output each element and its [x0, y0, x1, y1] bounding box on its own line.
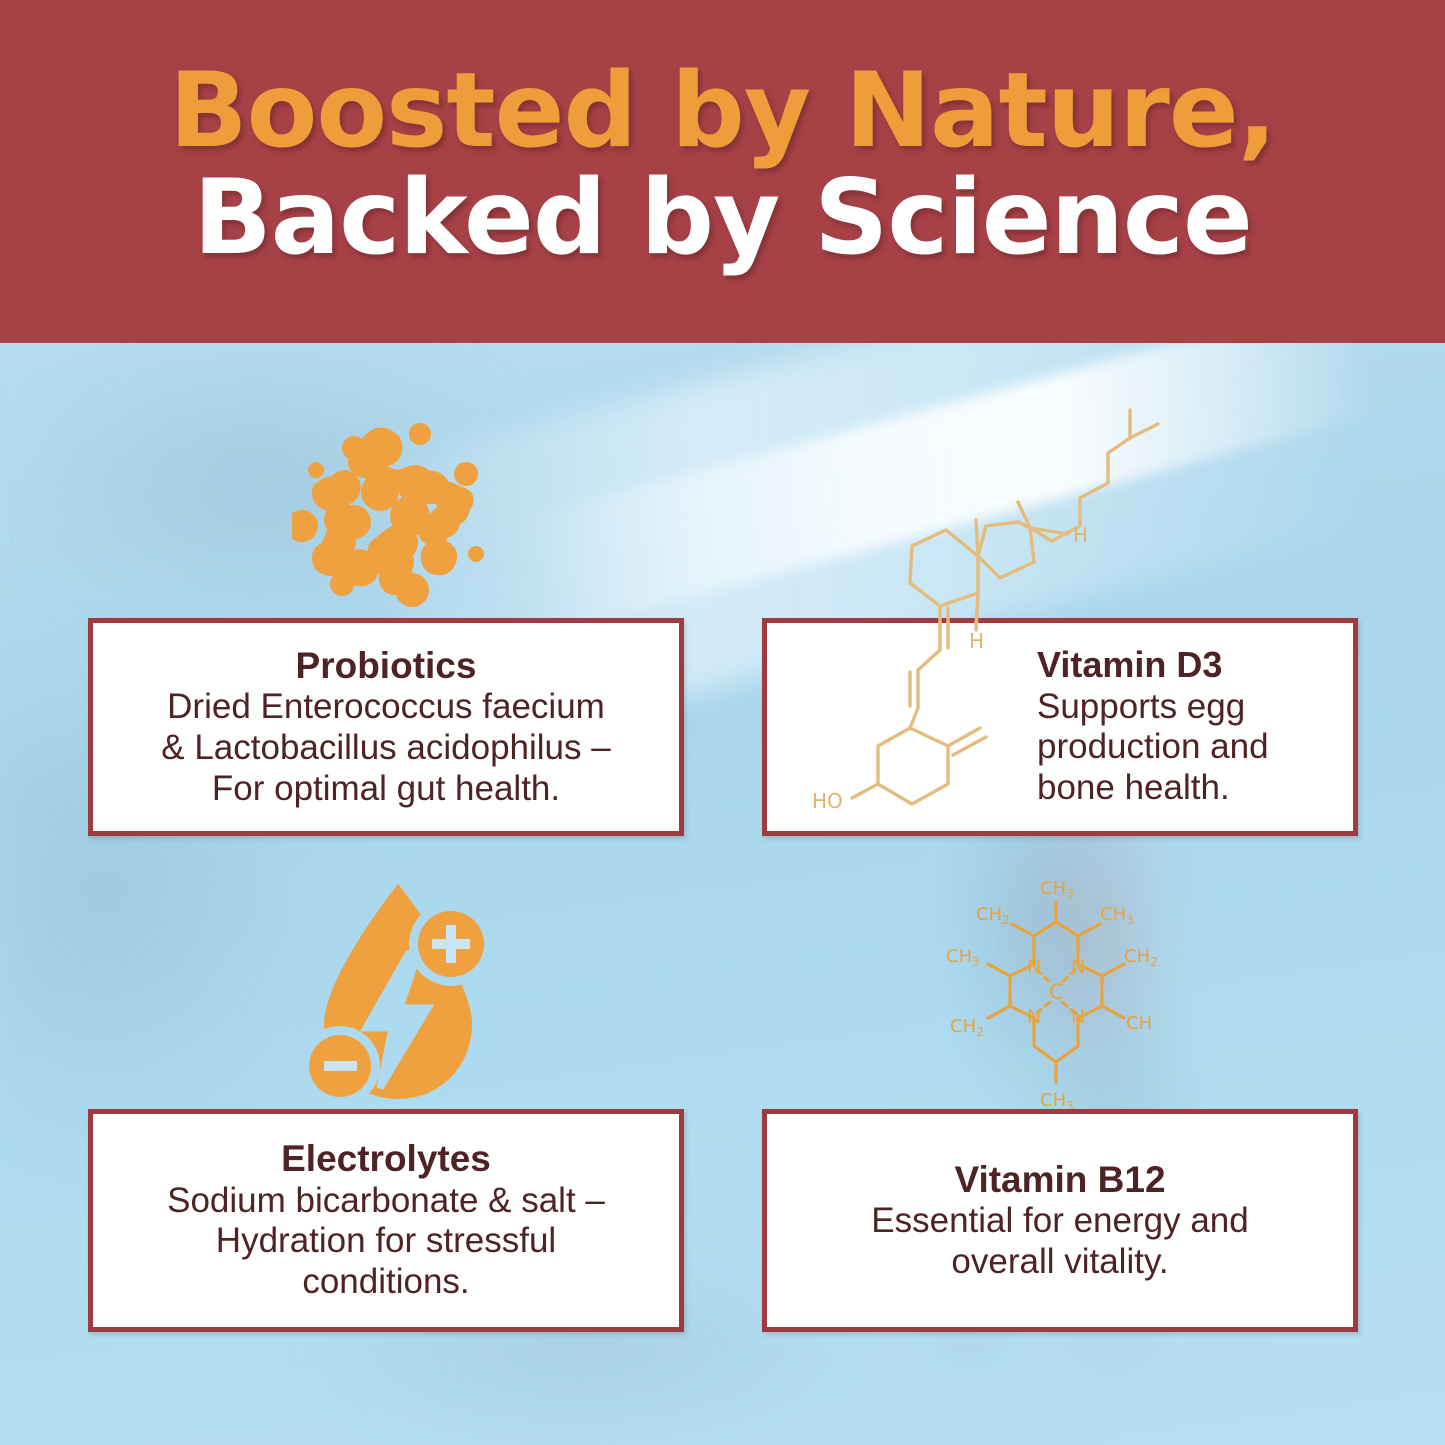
infographic-canvas: Boosted by Nature, Backed by Science	[0, 0, 1445, 1445]
header-banner: Boosted by Nature, Backed by Science	[0, 0, 1445, 343]
card-electrolytes: Electrolytes Sodium bicarbonate & salt –…	[88, 1109, 684, 1332]
card-electrolytes-content: Electrolytes Sodium bicarbonate & salt –…	[93, 1138, 679, 1302]
banner-headline-line-2: Backed by Science	[193, 169, 1252, 268]
card-vitamin-b12: Vitamin B12 Essential for energy and ove…	[762, 1109, 1358, 1332]
card-vitamin-b12-body: Essential for energy and overall vitalit…	[781, 1201, 1339, 1282]
card-probiotics-body: Dried Enterococcus faecium & Lactobacill…	[107, 687, 665, 809]
card-vitamin-d3: Vitamin D3 Supports egg production and b…	[762, 618, 1358, 836]
card-probiotics-title: Probiotics	[107, 645, 665, 686]
card-probiotics-content: Probiotics Dried Enterococcus faecium & …	[93, 645, 679, 809]
card-vitamin-d3-body: Supports egg production and bone health.	[1037, 687, 1343, 809]
card-vitamin-b12-title: Vitamin B12	[781, 1159, 1339, 1200]
card-vitamin-d3-title: Vitamin D3	[1037, 645, 1343, 685]
card-electrolytes-title: Electrolytes	[107, 1138, 665, 1179]
card-probiotics: Probiotics Dried Enterococcus faecium & …	[88, 618, 684, 836]
card-vitamin-d3-content: Vitamin D3 Supports egg production and b…	[767, 645, 1353, 808]
banner-headline-line-1: Boosted by Nature,	[169, 62, 1276, 161]
card-electrolytes-body: Sodium bicarbonate & salt – Hydration fo…	[107, 1181, 665, 1303]
card-vitamin-b12-content: Vitamin B12 Essential for energy and ove…	[767, 1159, 1353, 1283]
